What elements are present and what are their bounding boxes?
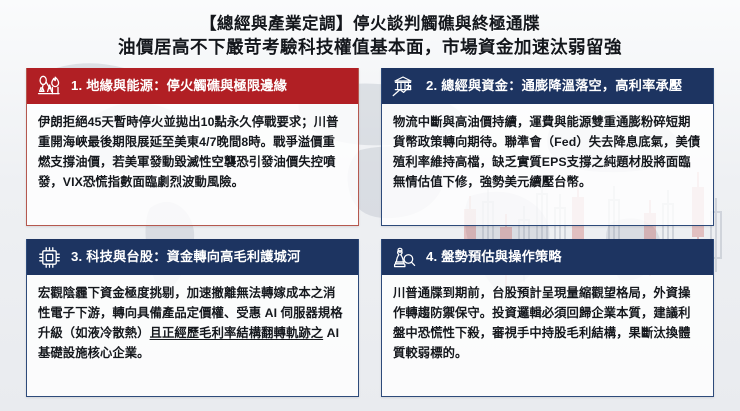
card-heading: 3. 科技與台股：資金轉向高毛利護城河 xyxy=(71,249,300,265)
card-header: 3. 科技與台股：資金轉向高毛利護城河 xyxy=(27,239,358,275)
page-title: 【總經與產業定調】停火談判觸礁與終極通牒 油價居高不下嚴苛考驗科技權值基本面，市… xyxy=(26,12,714,68)
card-header: 2. 總經與資金：通膨降溫落空，高利率承壓 xyxy=(382,68,713,104)
card-body: 伊朗拒絕45天暫時停火並拋出10點永久停戰要求；川普重開海峽最後期限展延至美東4… xyxy=(27,104,358,225)
card-heading: 1. 地緣與能源：停火觸礁與極限邊緣 xyxy=(71,78,287,94)
card-body-text: 川普通牒到期前，台股預計呈現量縮觀望格局，外資操作轉趨防禦保守。投資邏輯必須回歸… xyxy=(393,286,691,360)
card-body-text: 物流中斷與高油價持續，運費與能源雙重通膨粉碎短期貨幣政策轉向期待。聯準會（Fed… xyxy=(393,115,700,189)
card-body-text: 伊朗拒絕45天暫時停火並拋出10點永久停戰要求；川普重開海峽最後期限展延至美東4… xyxy=(38,115,339,189)
bank-growth-arrow-icon xyxy=(391,74,417,98)
card-heading: 4. 盤勢預估與操作策略 xyxy=(426,249,562,265)
card-body: 川普通牒到期前，台股預計呈現量縮觀望格局，外資操作轉趨防禦保守。投資邏輯必須回歸… xyxy=(382,275,713,396)
card-tech-taiwan-stocks: 3. 科技與台股：資金轉向高毛利護城河 宏觀陰霾下資金極度挑剔，加速撤離無法轉嫁… xyxy=(26,239,359,397)
card-heading: 2. 總經與資金：通膨降溫落空，高利率承壓 xyxy=(426,78,682,94)
card-header: 1. 地緣與能源：停火觸礁與極限邊緣 xyxy=(27,68,358,104)
page-title-line-2: 油價居高不下嚴苛考驗科技權值基本面，市場資金加速汰弱留強 xyxy=(26,36,714,59)
card-body-text-part-2-underlined: 且正經歷毛利率結構翻轉軌跡之 xyxy=(150,326,324,340)
cpu-chip-icon xyxy=(36,245,62,269)
card-macro-liquidity: 2. 總經與資金：通膨降溫落空，高利率承壓 物流中斷與高油價持續，運費與能源雙重… xyxy=(381,68,714,226)
page-root: 【總經與產業定調】停火談判觸礁與終極通牒 油價居高不下嚴苛考驗科技權值基本面，市… xyxy=(0,0,740,411)
card-body: 宏觀陰霾下資金極度挑剔，加速撤離無法轉嫁成本之消性電子下游，轉向具備產品定價權、… xyxy=(27,275,358,396)
card-header: 4. 盤勢預估與操作策略 xyxy=(382,239,713,275)
card-outlook-strategy: 4. 盤勢預估與操作策略 川普通牒到期前，台股預計呈現量縮觀望格局，外資操作轉趨… xyxy=(381,239,714,397)
card-geopolitics-energy: 1. 地緣與能源：停火觸礁與極限邊緣 伊朗拒絕45天暫時停火並拋出10點永久停戰… xyxy=(26,68,359,226)
chess-piece-magnifier-icon xyxy=(391,245,417,269)
page-title-line-1: 【總經與產業定調】停火談判觸礁與終極通牒 xyxy=(26,14,714,36)
oil-pumpjack-flame-icon xyxy=(36,74,62,98)
card-body: 物流中斷與高油價持續，運費與能源雙重通膨粉碎短期貨幣政策轉向期待。聯準會（Fed… xyxy=(382,104,713,225)
card-grid: 1. 地緣與能源：停火觸礁與極限邊緣 伊朗拒絕45天暫時停火並拋出10點永久停戰… xyxy=(26,68,714,397)
